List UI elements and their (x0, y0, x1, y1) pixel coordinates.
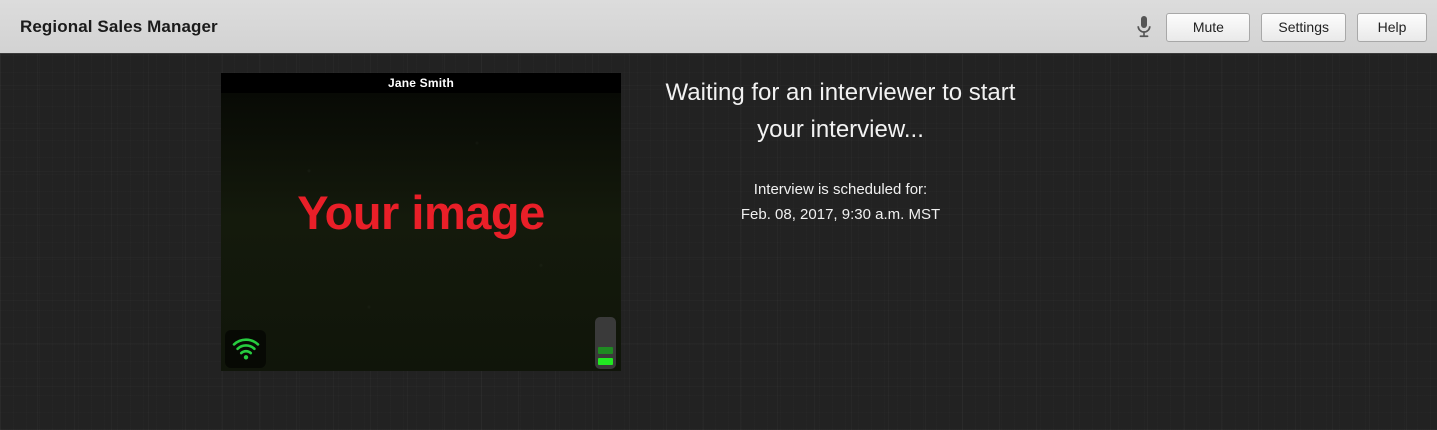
wifi-signal-icon (232, 338, 260, 360)
microphone-icon (1135, 14, 1155, 40)
help-button[interactable]: Help (1357, 13, 1427, 42)
scheduled-info: Interview is scheduled for: Feb. 08, 201… (641, 177, 1040, 227)
participant-name: Jane Smith (388, 76, 454, 90)
settings-button[interactable]: Settings (1261, 13, 1346, 42)
audio-level-meter (595, 317, 616, 369)
audio-meter-segment (598, 358, 613, 365)
audio-meter-segment (598, 347, 613, 354)
mute-button[interactable]: Mute (1166, 13, 1250, 42)
scheduled-datetime: Feb. 08, 2017, 9:30 a.m. MST (641, 202, 1040, 227)
app-header: Regional Sales Manager Mute Settings Hel… (0, 0, 1437, 54)
connection-status-badge (225, 330, 266, 368)
waiting-message-column: Waiting for an interviewer to start your… (641, 54, 1040, 430)
participant-name-bar: Jane Smith (221, 73, 621, 93)
self-video-panel[interactable]: Jane Smith Your image (221, 73, 621, 371)
video-preview-area: Your image (221, 93, 621, 371)
header-controls: Mute Settings Help (1135, 0, 1427, 54)
main-stage: Jane Smith Your image (0, 54, 1437, 430)
waiting-heading: Waiting for an interviewer to start your… (641, 74, 1040, 148)
video-placeholder-text: Your image (221, 185, 621, 240)
scheduled-label: Interview is scheduled for: (641, 177, 1040, 202)
interview-waiting-room: Regional Sales Manager Mute Settings Hel… (0, 0, 1437, 430)
page-title: Regional Sales Manager (20, 17, 218, 37)
